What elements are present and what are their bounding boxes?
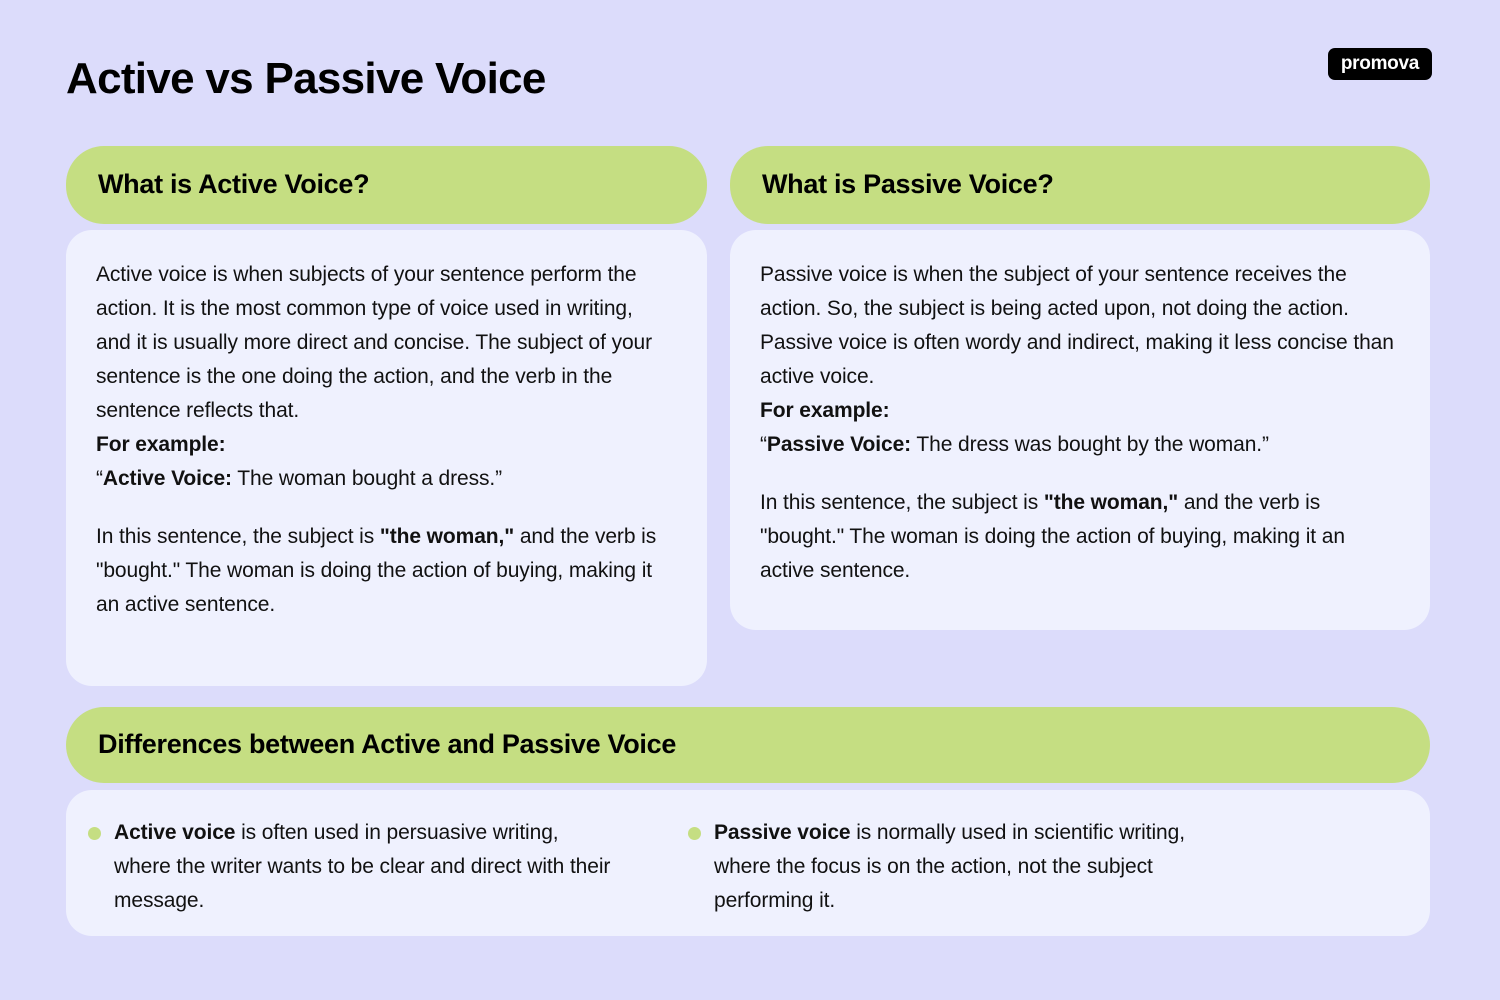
list-item: Active voice is often used in persuasive… bbox=[88, 816, 688, 936]
passive-explanation: In this sentence, the subject is "the wo… bbox=[760, 486, 1396, 588]
active-voice-card-body: Active voice is when subjects of your se… bbox=[66, 230, 707, 686]
active-voice-card-header: What is Active Voice? bbox=[66, 146, 707, 224]
differences-header-label: Differences between Active and Passive V… bbox=[66, 729, 676, 760]
passive-for-example-label: For example: bbox=[760, 394, 1396, 428]
bullet-dot-icon bbox=[88, 827, 101, 840]
passive-paragraph-1: Passive voice is when the subject of you… bbox=[760, 258, 1396, 394]
differences-card-body: Active voice is often used in persuasive… bbox=[66, 790, 1430, 936]
differences-bullet-columns: Active voice is often used in persuasive… bbox=[66, 790, 1430, 936]
passive-voice-difference-text: Passive voice is normally used in scient… bbox=[714, 816, 1214, 918]
differences-card-header: Differences between Active and Passive V… bbox=[66, 707, 1430, 783]
promova-logo: promova bbox=[1328, 48, 1432, 80]
active-example-sentence: “Active Voice: The woman bought a dress.… bbox=[96, 462, 673, 496]
passive-voice-card-body: Passive voice is when the subject of you… bbox=[730, 230, 1430, 630]
active-explanation: In this sentence, the subject is "the wo… bbox=[96, 520, 673, 622]
passive-example-sentence: “Passive Voice: The dress was bought by … bbox=[760, 428, 1396, 462]
page-title: Active vs Passive Voice bbox=[66, 55, 546, 103]
active-voice-header-label: What is Active Voice? bbox=[66, 169, 369, 200]
bullet-dot-icon bbox=[688, 827, 701, 840]
active-voice-difference-text: Active voice is often used in persuasive… bbox=[114, 816, 614, 918]
active-paragraph-1: Active voice is when subjects of your se… bbox=[96, 258, 673, 428]
passive-voice-header-label: What is Passive Voice? bbox=[730, 169, 1054, 200]
passive-voice-card-header: What is Passive Voice? bbox=[730, 146, 1430, 224]
active-voice-content: Active voice is when subjects of your se… bbox=[96, 258, 673, 622]
infographic-page: Active vs Passive Voice promova What is … bbox=[0, 0, 1500, 1000]
passive-voice-content: Passive voice is when the subject of you… bbox=[760, 258, 1396, 588]
list-item: Passive voice is normally used in scient… bbox=[688, 816, 1288, 936]
active-for-example-label: For example: bbox=[96, 428, 673, 462]
